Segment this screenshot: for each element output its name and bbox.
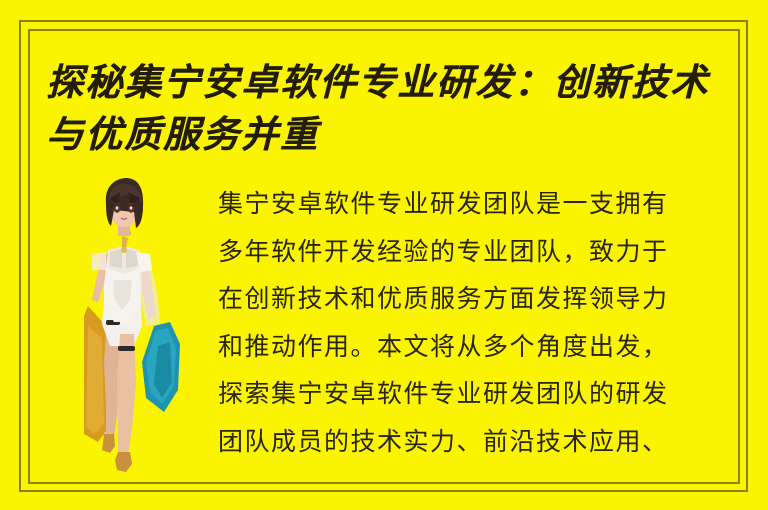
- page-title: 探秘集宁安卓软件专业研发：创新技术 与优质服务并重: [46, 56, 746, 160]
- body-paragraph: 集宁安卓软件专业研发团队是一支拥有 多年软件开发经验的专业团队，致力于 在创新技…: [218, 180, 742, 480]
- body-line-1: 集宁安卓软件专业研发团队是一支拥有: [218, 180, 742, 228]
- shoulder-ruffle-left: [92, 252, 106, 270]
- body-line-4: 和推动作用。本文将从多个角度出发，: [218, 323, 742, 371]
- figure-illustration-svg: [84, 176, 216, 482]
- body-line-3: 在创新技术和优质服务方面发挥领导力: [218, 275, 742, 323]
- title-line-1: 探秘集宁安卓软件专业研发：创新技术: [46, 56, 746, 108]
- body-line-2: 多年软件开发经验的专业团队，致力于: [218, 228, 742, 276]
- body-line-6: 团队成员的技术实力、前沿技术应用、: [218, 418, 742, 466]
- thigh-strap: [118, 346, 135, 351]
- title-line-2: 与优质服务并重: [46, 108, 746, 160]
- body-line-5: 探索集宁安卓软件专业研发团队的研发: [218, 370, 742, 418]
- poster-canvas: 探秘集宁安卓软件专业研发：创新技术 与优质服务并重: [0, 0, 768, 510]
- anime-woman-figure-illustration: [84, 176, 216, 482]
